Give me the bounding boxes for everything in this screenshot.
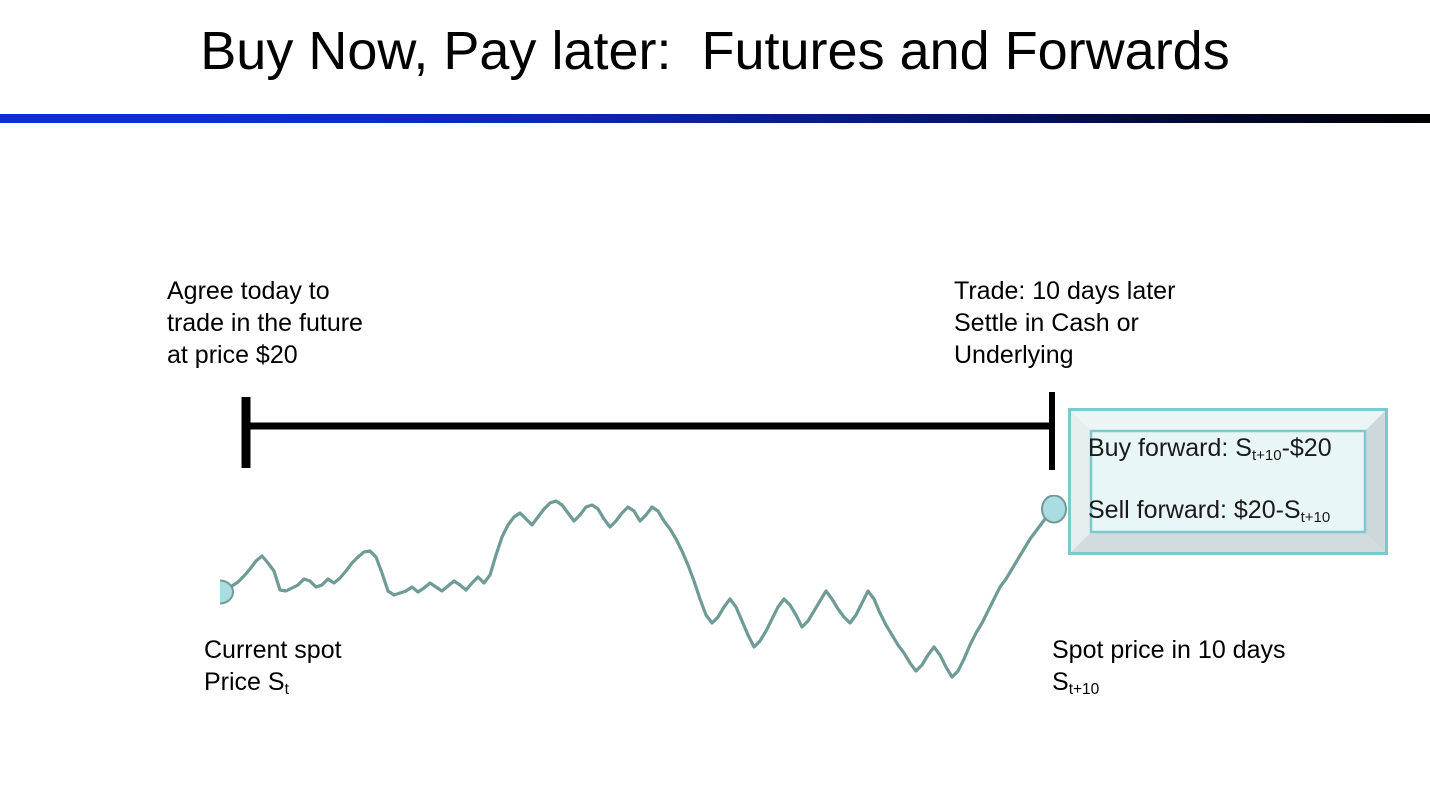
spot-price-line: [220, 501, 1054, 677]
current-spot-line2-prefix: Price S: [204, 668, 285, 696]
title-divider-rule: [0, 114, 1430, 123]
buy-forward-subscript: t+10: [1252, 447, 1282, 464]
callout-agree-today: Agree today to trade in the future at pr…: [167, 275, 567, 371]
page-title: Buy Now, Pay later: Futures and Forwards: [0, 22, 1430, 81]
current-spot-marker: [220, 581, 233, 604]
callout-trade-settlement: Trade: 10 days later Settle in Cash or U…: [954, 275, 1374, 371]
sell-forward-payoff: Sell forward: $20-St+10: [1088, 495, 1370, 529]
slide-canvas: Buy Now, Pay later: Futures and Forwards…: [0, 0, 1430, 798]
contract-timeline: [240, 390, 1070, 475]
label-current-spot: Current spotPrice St: [204, 634, 342, 702]
buy-forward-payoff: Buy forward: St+10-$20: [1088, 433, 1370, 467]
label-future-spot: Spot price in 10 daysSt+10: [1052, 634, 1285, 702]
buy-forward-prefix: Buy forward: S: [1088, 434, 1252, 462]
forward-payoff-box: Buy forward: St+10-$20 Sell forward: $20…: [1068, 408, 1388, 555]
future-spot-marker: [1042, 496, 1066, 523]
sell-forward-prefix: Sell forward: $20-S: [1088, 496, 1301, 524]
future-spot-subscript: t+10: [1069, 681, 1100, 698]
spot-price-path-chart: [220, 495, 1080, 710]
future-spot-line1: Spot price in 10 days: [1052, 636, 1285, 664]
sell-forward-subscript: t+10: [1301, 509, 1331, 526]
current-spot-line1: Current spot: [204, 636, 342, 664]
current-spot-subscript: t: [285, 681, 289, 698]
buy-forward-suffix: -$20: [1282, 434, 1332, 462]
future-spot-line2-prefix: S: [1052, 668, 1069, 696]
